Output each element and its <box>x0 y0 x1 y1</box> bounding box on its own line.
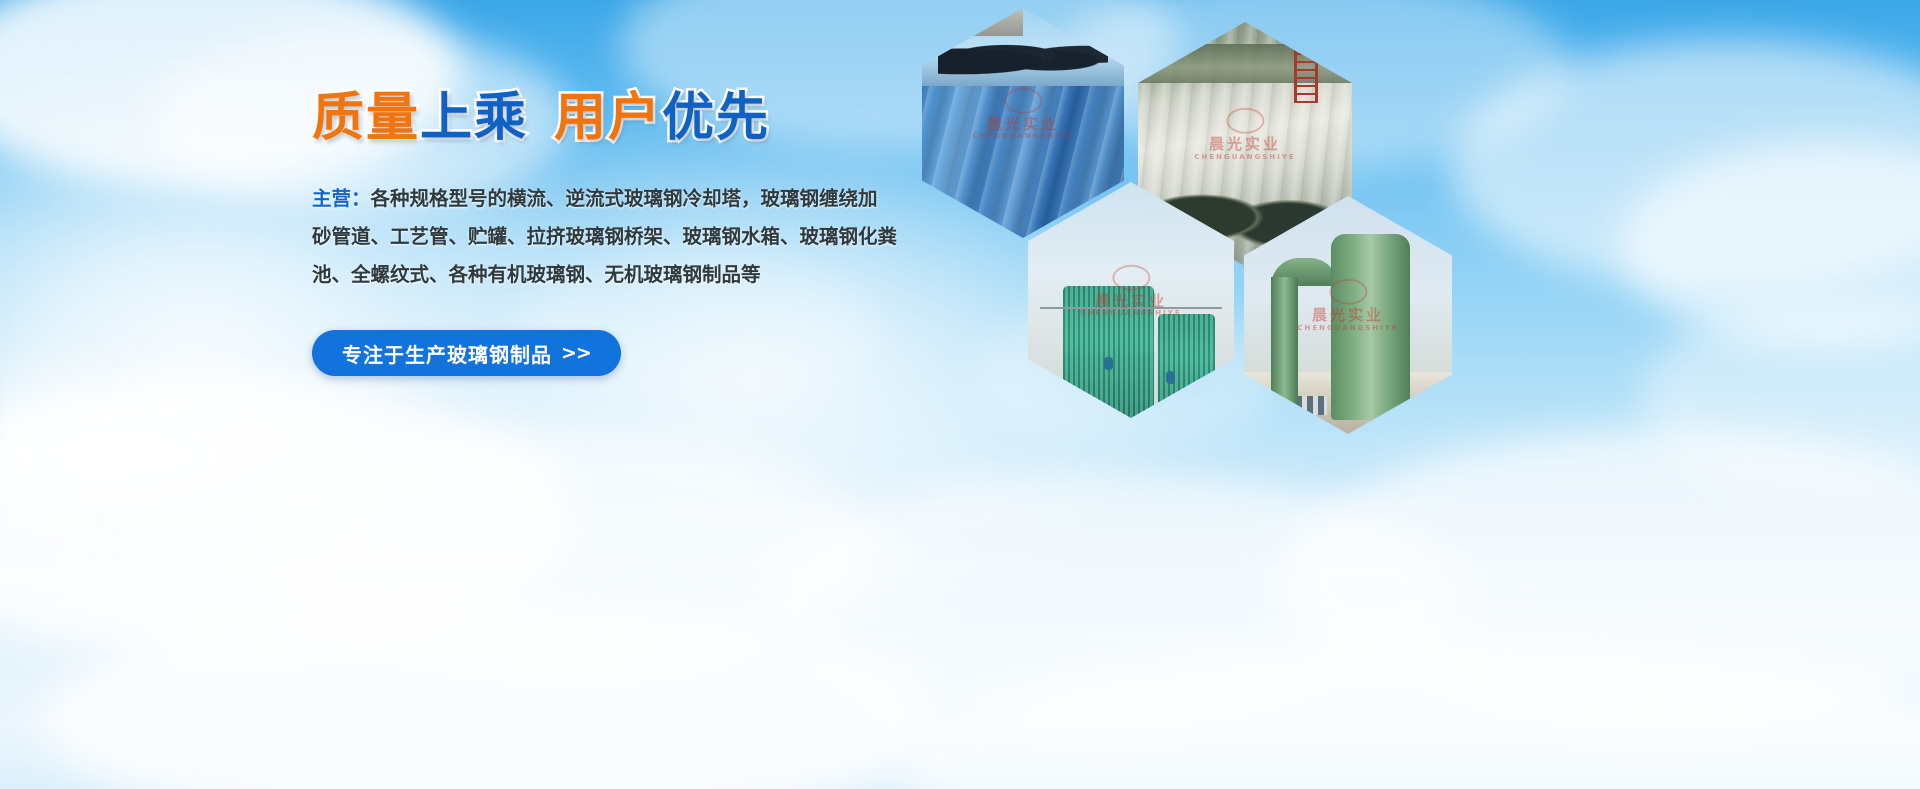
business-scope-text: 主营：各种规格型号的横流、逆流式玻璃钢冷却塔，玻璃钢缠绕加砂管道、工艺管、贮罐、… <box>312 180 897 294</box>
banner-copy: 质量上乘用户优先 主营：各种规格型号的横流、逆流式玻璃钢冷却塔，玻璃钢缠绕加砂管… <box>312 92 912 376</box>
photo-vessel <box>1331 234 1410 420</box>
photo-cooling-tower <box>1063 286 1154 418</box>
photo-railing <box>1040 307 1221 309</box>
photo-downpipe <box>1271 277 1298 420</box>
headline-segment-2: 上乘 <box>420 88 528 148</box>
photo-nozzle <box>1104 357 1113 370</box>
photo-pipe-band <box>1138 44 1352 83</box>
product-gallery: 晨光实业 CHENGUANGSHIYE 晨光实业 CHENGUANGSHIYE <box>900 0 1460 430</box>
headline-segment-4: 优先 <box>662 88 770 148</box>
business-scope-label: 主营： <box>312 187 371 210</box>
photo-cooling-tower <box>1158 314 1216 418</box>
page-title: 质量上乘用户优先 <box>312 92 912 144</box>
photo-building <box>954 8 1023 36</box>
cta-button[interactable]: 专注于生产玻璃钢制品 >> <box>312 330 621 376</box>
cloud-haze-bottom <box>0 489 1920 789</box>
photo-pipe-ends <box>938 38 1108 77</box>
cta-label: 专注于生产玻璃钢制品 <box>342 339 552 368</box>
headline-segment-1: 质量 <box>312 88 420 148</box>
business-scope-body: 各种规格型号的横流、逆流式玻璃钢冷却塔，玻璃钢缠绕加砂管道、工艺管、贮罐、拉挤玻… <box>312 187 897 286</box>
chevron-right-double-icon: >> <box>561 342 591 364</box>
banner-stage: 晨光实业 CHENGUANGSHIYE 晨光实业 CHENGUANGSHIYE <box>0 0 1920 789</box>
photo-nozzle <box>1166 371 1175 384</box>
photo-ladder <box>1294 37 1318 103</box>
headline-segment-3: 用户 <box>554 88 662 148</box>
